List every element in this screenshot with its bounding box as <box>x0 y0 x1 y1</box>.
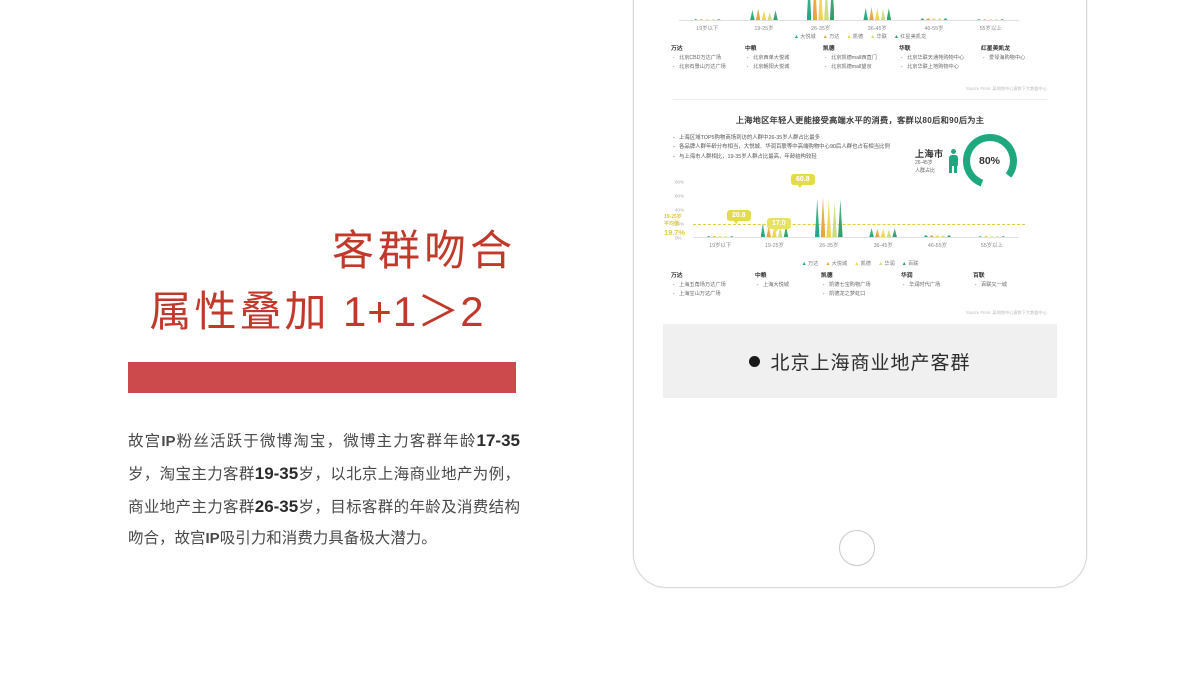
bar <box>995 236 1000 237</box>
bar <box>767 12 772 20</box>
brand-column: 百联百联又一城 <box>973 270 1047 298</box>
bar <box>924 235 929 238</box>
bar <box>815 199 820 237</box>
brand-name: 百联 <box>973 270 1047 279</box>
bar <box>712 236 717 237</box>
body-part-1: 故宫 <box>128 433 161 450</box>
legend-label: 大悦城 <box>832 261 848 267</box>
x-tick-label: 36-45岁 <box>849 24 906 32</box>
caption-text: 北京上海商业地产客群 <box>770 348 970 375</box>
shanghai-chart-legend: ▲万达▲大悦城▲凯德▲华润▲百联 <box>663 260 1057 267</box>
bar <box>978 236 983 237</box>
page-title-line1: 客群吻合 <box>128 228 516 276</box>
bar <box>824 0 829 20</box>
body-part-3: 岁，淘宝主力客群 <box>128 466 255 483</box>
shanghai-callout-60: 60.8 <box>791 174 815 185</box>
legend-label: 凯德 <box>861 261 871 267</box>
shanghai-bullet-list: 上海区域TOP5购物商场到访的人群中26-35岁人群占比最多 各品牌人群年龄分布… <box>671 134 909 162</box>
shanghai-donut-label: 上海市 26-45岁 人群占比 <box>915 147 944 175</box>
bar <box>838 199 843 237</box>
shanghai-donut-group: 上海市 26-45岁 人群占比 80% <box>915 134 1017 188</box>
bar <box>932 18 937 20</box>
bar <box>984 236 989 237</box>
shanghai-donut-value: 80% <box>970 141 1010 181</box>
bar <box>869 7 874 20</box>
brand-store-item: 北京华联上地购物中心 <box>907 63 981 71</box>
brand-column: 中粮上海大悦城 <box>755 270 821 298</box>
brand-column: 凯德凯德七宝购物广场凯德龙之梦虹口 <box>821 270 901 298</box>
legend-item: ▲大悦城 <box>794 33 816 40</box>
beijing-age-bar-chart <box>679 0 1019 21</box>
bar <box>994 19 999 20</box>
list-item: 上海区域TOP5购物商场到访的人群中26-35岁人群占比最多 <box>680 134 909 143</box>
body-part-2: 粉丝活跃于微博淘宝，微博主力客群年龄 <box>176 433 477 450</box>
brand-name: 华润 <box>901 270 973 279</box>
brand-store-item: 凯德七宝购物广场 <box>829 281 901 289</box>
beijing-x-axis <box>679 20 1019 21</box>
brand-column: 万达上海五角场万达广场上海宝山万达广场 <box>671 270 755 298</box>
body-ip-1: IP <box>161 433 175 450</box>
bar <box>807 0 812 20</box>
section-divider <box>673 99 1047 100</box>
body-number-3: 26-35 <box>255 497 298 516</box>
brand-column: 万达北京CBD万达广场北京石景山万达广场 <box>671 43 745 71</box>
bar <box>988 19 993 20</box>
bar <box>887 8 892 20</box>
brand-store-item: 北京凯德mall望京 <box>831 63 899 71</box>
beijing-brand-table: 万达北京CBD万达广场北京石景山万达广场中粮北京西单大悦城北京朝阳大悦城凯德北京… <box>671 43 1047 71</box>
legend-marker-icon: ▲ <box>870 34 875 40</box>
bar <box>761 223 766 237</box>
bar <box>717 19 722 20</box>
beijing-source-note: Source From: 某购物中心客群下大数据中心 <box>966 86 1047 92</box>
beijing-chart-plot <box>679 0 1019 21</box>
brand-store-item: 北京CBD万达广场 <box>679 54 745 62</box>
bar <box>718 236 723 237</box>
bar-group <box>815 197 843 237</box>
brand-store-item: 上海宝山万达广场 <box>679 290 755 298</box>
list-item: 各品牌人群年龄分布相当，大悦城、华润百联等中高端购物中心90后人群也占有相当比例 <box>680 143 909 152</box>
brand-column: 红星美凯龙爱琴海购物中心 <box>981 43 1047 71</box>
x-tick-label: 19-25岁 <box>736 24 793 32</box>
legend-item: ▲华润 <box>878 260 895 267</box>
shanghai-callout-17: 17.0 <box>767 218 791 229</box>
legend-label: 百联 <box>908 261 918 267</box>
legend-item: ▲万达 <box>823 33 840 40</box>
legend-label: 万达 <box>829 34 839 40</box>
shanghai-title: 上海地区年轻人更能接受高端水平的消费，客群以80后和90后为主 <box>663 102 1057 126</box>
bar <box>750 10 755 20</box>
page-title-line2: 属性叠加 1+1＞2 <box>118 288 516 337</box>
bar <box>947 235 952 237</box>
bar <box>926 18 931 21</box>
shanghai-average-reference-line <box>693 224 1025 225</box>
legend-item: ▲万达 <box>802 260 819 267</box>
bar <box>892 228 897 237</box>
legend-marker-icon: ▲ <box>802 261 807 267</box>
legend-marker-icon: ▲ <box>878 261 883 267</box>
bar <box>977 19 982 20</box>
y-tick-label: 80% <box>675 180 684 185</box>
left-text-panel: 客群吻合 属性叠加 1+1＞2 故宫IP粉丝活跃于微博淘宝，微博主力客群年龄17… <box>0 0 600 675</box>
bar <box>863 8 868 21</box>
bar <box>830 0 835 20</box>
bar <box>1000 19 1005 20</box>
x-tick-label: 55岁以上 <box>965 241 1019 249</box>
list-item: 与上海市人群相比，19-35岁人群占比最高，年龄结构较轻 <box>680 153 909 162</box>
beijing-chart-legend: ▲大悦城▲万达▲凯德▲华联▲红星美凯龙 <box>663 33 1057 40</box>
legend-item: ▲大悦城 <box>825 260 847 267</box>
caption-bar: 北京上海商业地产客群 <box>663 324 1057 398</box>
avg-line1: 19-25岁 <box>664 214 692 221</box>
legend-marker-icon: ▲ <box>794 34 799 40</box>
brand-store-item: 北京华联天通苑购物中心 <box>907 54 981 62</box>
page-title-line2-math: 1+1＞2 <box>343 288 485 335</box>
bar <box>920 18 925 20</box>
bar <box>693 19 698 20</box>
brand-store-item: 北京凯德mall西直门 <box>831 54 899 62</box>
bar <box>818 0 823 20</box>
bar <box>826 200 831 237</box>
bar-group <box>807 0 835 20</box>
legend-label: 万达 <box>808 261 818 267</box>
bar <box>935 235 940 237</box>
brand-name: 凯德 <box>823 43 899 52</box>
shanghai-donut-chart: 80% <box>963 134 1017 188</box>
tablet-device-frame: 北京地区购物中心客群80后为主，中年人更偏爱日常需求消费 北京区域TOP5购物商… <box>633 0 1087 588</box>
bar <box>937 18 942 20</box>
accent-divider-bar <box>128 362 516 393</box>
shanghai-source-note: Source From: 某购物中心客群下大数据中心 <box>966 310 1047 316</box>
brand-name: 中粮 <box>745 43 823 52</box>
x-tick-label: 55岁以上 <box>962 24 1019 32</box>
legend-item: ▲红星美凯龙 <box>894 33 926 40</box>
legend-marker-icon: ▲ <box>854 261 859 267</box>
body-part-6: 吸引力和消费力具备极大潜力。 <box>220 530 437 547</box>
bar <box>881 9 886 20</box>
x-tick-label: 26-35岁 <box>792 24 849 32</box>
legend-label: 华润 <box>884 261 894 267</box>
x-tick-label: 36-45岁 <box>856 241 910 249</box>
brand-store-item: 华润时代广场 <box>909 281 973 289</box>
bar-group <box>920 18 948 21</box>
bar-group <box>863 7 891 20</box>
legend-label: 华联 <box>877 34 887 40</box>
beijing-report-section: 北京地区购物中心客群80后为主，中年人更偏爱日常需求消费 北京区域TOP5购物商… <box>663 0 1057 102</box>
shanghai-report-section: 上海地区年轻人更能接受高端水平的消费，客群以80后和90后为主 上海区域TOP5… <box>663 102 1057 324</box>
y-tick-label: 60% <box>675 194 684 199</box>
bar <box>989 236 994 237</box>
legend-marker-icon: ▲ <box>823 34 828 40</box>
brand-name: 万达 <box>671 43 745 52</box>
shanghai-region-name: 上海市 <box>915 147 944 160</box>
bar <box>773 10 778 20</box>
y-tick-label: 40% <box>675 208 684 213</box>
shanghai-callout-20: 20.8 <box>727 210 751 221</box>
brand-name: 万达 <box>671 270 755 279</box>
bar <box>869 228 874 237</box>
brand-name: 凯德 <box>821 270 901 279</box>
legend-marker-icon: ▲ <box>894 34 899 40</box>
x-tick-label: 46-55岁 <box>910 241 964 249</box>
bar <box>1001 236 1006 237</box>
bar <box>929 235 934 238</box>
legend-item: ▲凯德 <box>846 33 863 40</box>
legend-label: 大悦城 <box>800 34 816 40</box>
legend-marker-icon: ▲ <box>825 261 830 267</box>
brand-column: 凯德北京凯德mall西直门北京凯德mall望京 <box>823 43 899 71</box>
legend-item: ▲百联 <box>902 260 919 267</box>
brand-name: 中粮 <box>755 270 821 279</box>
bar <box>706 236 711 237</box>
body-ip-2: IP <box>206 530 220 547</box>
legend-item: ▲凯德 <box>854 260 871 267</box>
home-button[interactable] <box>839 530 875 566</box>
brand-store-item: 上海五角场万达广场 <box>679 281 755 289</box>
page-title-line2-cn: 属性叠加 <box>149 290 329 336</box>
legend-marker-icon: ▲ <box>902 261 907 267</box>
legend-marker-icon: ▲ <box>846 34 851 40</box>
bar-group <box>978 236 1006 237</box>
legend-item: ▲华联 <box>870 33 887 40</box>
legend-label: 凯德 <box>853 34 863 40</box>
brand-store-item: 北京石景山万达广场 <box>679 63 745 71</box>
brand-store-item: 百联又一城 <box>981 281 1047 289</box>
bullet-dot-icon <box>749 356 760 367</box>
brand-store-item: 爱琴海购物中心 <box>989 54 1047 62</box>
x-tick-label: 19岁以下 <box>693 241 747 249</box>
bar <box>756 8 761 20</box>
bar-group <box>693 19 721 20</box>
bar-group <box>869 228 897 237</box>
bar <box>711 19 716 20</box>
body-paragraph: 故宫IP粉丝活跃于微博淘宝，微博主力客群年龄17-35岁，淘宝主力客群19-35… <box>128 424 520 554</box>
shanghai-donut-sub2: 人群占比 <box>915 168 944 175</box>
shanghai-x-axis <box>693 237 1019 238</box>
brand-column: 中粮北京西单大悦城北京朝阳大悦城 <box>745 43 823 71</box>
shanghai-donut-sub1: 26-45岁 <box>915 160 944 167</box>
person-icon <box>948 148 959 174</box>
bar-group <box>977 19 1005 20</box>
bar <box>881 229 886 237</box>
avg-line2: 平均值 <box>664 221 692 228</box>
bar <box>821 197 826 237</box>
bar <box>875 229 880 238</box>
brand-store-item: 北京西单大悦城 <box>753 54 823 62</box>
brand-column: 华联北京华联天通苑购物中心北京华联上地购物中心 <box>899 43 981 71</box>
shanghai-average-annotation: 19-25岁 平均值 19.7% <box>664 214 692 238</box>
brand-store-item: 北京朝阳大悦城 <box>753 63 823 71</box>
bar-group <box>750 8 778 20</box>
body-number-2: 19-35 <box>255 464 298 483</box>
bar <box>813 0 818 20</box>
x-tick-label: 19-25岁 <box>747 241 801 249</box>
x-tick-label: 46-55岁 <box>906 24 963 32</box>
brand-store-item: 上海大悦城 <box>763 281 821 289</box>
brand-store-item: 凯德龙之梦虹口 <box>829 290 901 298</box>
brand-name: 华联 <box>899 43 981 52</box>
legend-label: 红星美凯龙 <box>900 34 926 40</box>
body-number-1: 17-35 <box>477 431 520 450</box>
bar <box>729 236 734 237</box>
bar <box>875 8 880 20</box>
bar <box>943 18 948 20</box>
bar <box>832 201 837 237</box>
shanghai-brand-table: 万达上海五角场万达广场上海宝山万达广场中粮上海大悦城凯德凯德七宝购物广场凯德龙之… <box>671 270 1047 298</box>
avg-value: 19.7% <box>664 228 692 238</box>
bar-group <box>706 236 734 237</box>
bar <box>983 19 988 20</box>
x-tick-label: 19岁以下 <box>679 24 736 32</box>
bar <box>887 229 892 237</box>
bar <box>941 235 946 237</box>
brand-name: 红星美凯龙 <box>981 43 1047 52</box>
bar <box>762 11 767 21</box>
tablet-screen[interactable]: 北京地区购物中心客群80后为主，中年人更偏爱日常需求消费 北京区域TOP5购物商… <box>663 0 1057 509</box>
bar <box>724 236 729 237</box>
bar <box>705 19 710 20</box>
x-tick-label: 26-35岁 <box>802 241 856 249</box>
bar-group <box>924 235 952 238</box>
brand-column: 华润华润时代广场 <box>901 270 973 298</box>
bar <box>699 19 704 20</box>
